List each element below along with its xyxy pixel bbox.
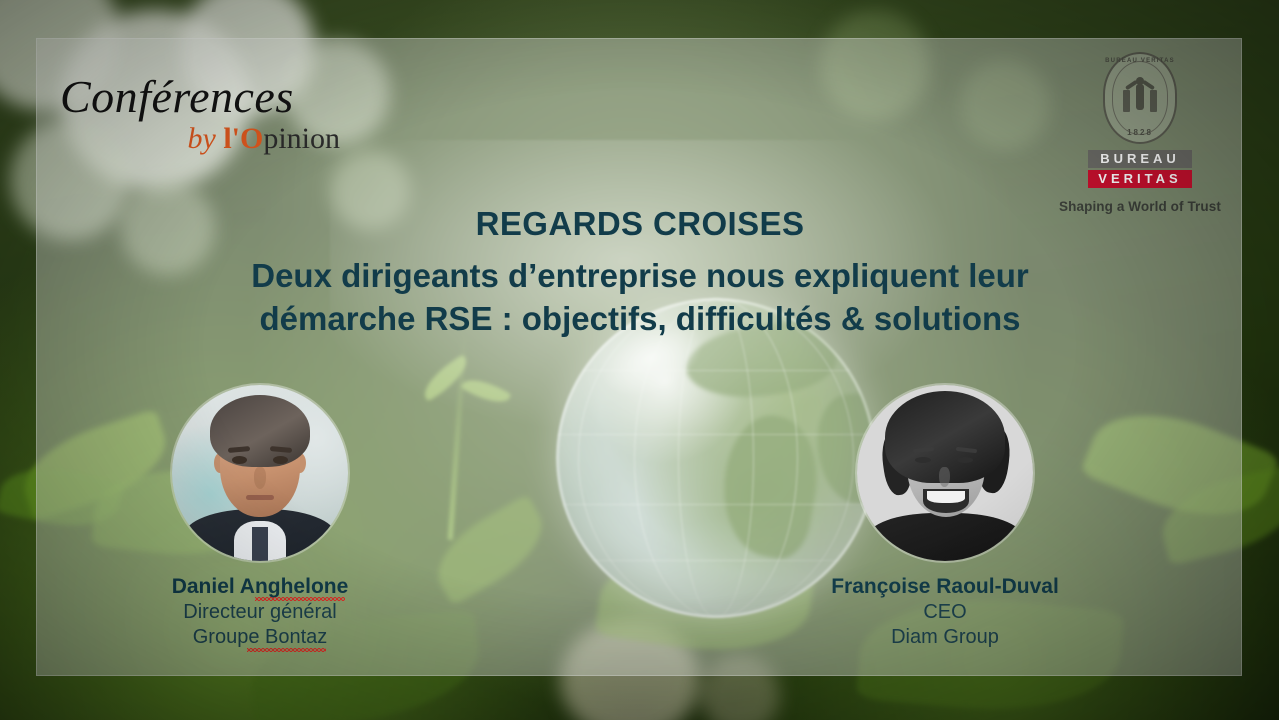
seal-year-text: 1828 (1105, 128, 1175, 137)
seal-top-text: BUREAU VERITAS (1105, 58, 1175, 64)
slide-title-block: REGARDS CROISES Deux dirigeants d’entrep… (100, 204, 1180, 341)
title-line-3: démarche RSE : objectifs, difficultés & … (100, 298, 1180, 341)
by-word: by (187, 122, 215, 155)
speaker-org-text: Groupe Bontaz (193, 626, 328, 648)
spellcheck-underline (255, 597, 345, 601)
bureau-veritas-wordmark: BUREAU VERITAS (1088, 150, 1192, 188)
seal-pillar-left (1123, 90, 1130, 112)
seal-figure-body (1136, 84, 1144, 110)
portrait-smile (923, 489, 969, 513)
conferences-wordmark: Conférences (60, 74, 340, 120)
speaker-organization: Diam Group (891, 625, 999, 649)
speaker-role: Directeur général (50, 600, 470, 624)
portrait-hair (210, 395, 310, 467)
seal-pillar-right (1150, 90, 1157, 112)
speaker-organization: Groupe Bontaz (193, 625, 328, 649)
pinion-word: pinion (263, 122, 340, 155)
speaker-card-left: Daniel Anghelone Directeur général Group… (50, 385, 470, 650)
avatar (857, 385, 1033, 561)
by-lopinion-wordmark: by l'Opinion (60, 124, 340, 154)
portrait-nose (939, 467, 950, 487)
avatar (172, 385, 348, 561)
title-line-1: REGARDS CROISES (100, 204, 1180, 244)
conferences-logo: Conférences by l'Opinion (60, 74, 340, 154)
portrait-mouth (246, 495, 274, 500)
lo-word: l'O (223, 122, 263, 155)
portrait-jacket (867, 513, 1023, 561)
bureau-veritas-logo: BUREAU VERITAS 1828 BUREAU VERITAS Shapi… (1045, 52, 1235, 214)
portrait-eye-left (232, 456, 247, 464)
presentation-slide: Conférences by l'Opinion BUREAU VERITAS … (0, 0, 1279, 720)
bureau-veritas-seal-icon: BUREAU VERITAS 1828 (1103, 52, 1177, 144)
speaker-org-text: Diam Group (891, 626, 999, 648)
speaker-card-right: Françoise Raoul-Duval CEO Diam Group (735, 385, 1155, 650)
wordmark-bureau: BUREAU (1088, 150, 1192, 168)
portrait-nose (254, 467, 266, 489)
spellcheck-underline (247, 648, 326, 652)
wordmark-veritas: VERITAS (1088, 170, 1192, 188)
speaker-role: CEO (735, 600, 1155, 624)
portrait-eye-left (915, 457, 931, 463)
portrait-eye-right (273, 456, 288, 464)
portrait-tie (252, 527, 268, 561)
portrait-eye-right (957, 457, 973, 463)
speaker-name: Françoise Raoul-Duval (831, 575, 1059, 599)
speaker-name: Daniel Anghelone (172, 575, 349, 599)
title-line-2: Deux dirigeants d’entreprise nous expliq… (100, 255, 1180, 298)
portrait-teeth (927, 491, 965, 503)
seal-figure-icon (1123, 76, 1157, 122)
speaker-name-text: Françoise Raoul-Duval (831, 575, 1059, 598)
speaker-name-text: Daniel Anghelone (172, 575, 349, 598)
